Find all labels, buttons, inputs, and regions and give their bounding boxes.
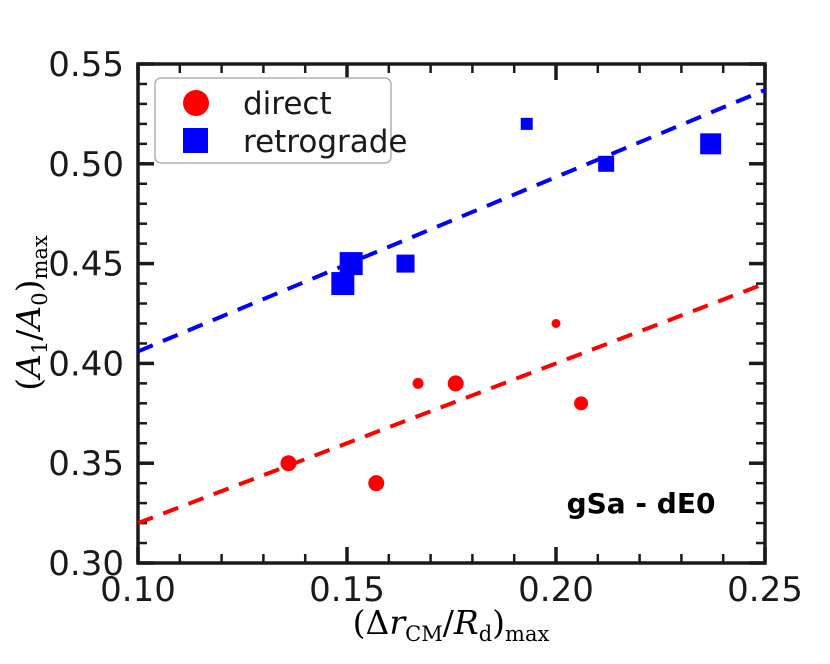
- data-point-direct: [574, 396, 588, 410]
- data-point-retrograde: [340, 252, 363, 275]
- legend-marker-retrograde: [183, 128, 208, 153]
- legend: direct retrograde: [155, 78, 408, 163]
- y-tick-label: 0.45: [48, 245, 124, 285]
- y-tick-label: 0.30: [48, 544, 124, 584]
- data-point-direct: [552, 319, 561, 328]
- data-point-retrograde: [521, 118, 533, 130]
- y-tick-label: 0.40: [48, 344, 124, 384]
- y-tick-label: 0.35: [48, 444, 124, 484]
- data-point-direct: [280, 455, 296, 471]
- x-tick-label: 0.25: [727, 570, 803, 610]
- svg-text:(A1/A0)max: (A1/A0)max: [9, 235, 52, 391]
- x-tick-label: 0.20: [518, 570, 594, 610]
- data-points: [280, 118, 721, 491]
- data-point-direct: [413, 378, 424, 389]
- data-point-retrograde: [598, 156, 614, 172]
- plot-annotation: gSa - dE0: [567, 487, 716, 520]
- data-point-direct: [448, 375, 464, 391]
- y-tick-label: 0.55: [48, 45, 124, 85]
- legend-marker-direct: [183, 90, 209, 116]
- data-point-retrograde: [331, 272, 354, 295]
- legend-label-direct: direct: [243, 86, 332, 122]
- scatter-plot: 0.100.150.200.250.300.350.400.450.500.55…: [0, 0, 830, 664]
- data-point-retrograde: [700, 133, 721, 154]
- data-point-retrograde: [397, 255, 415, 273]
- data-point-direct: [368, 475, 384, 491]
- y-tick-label: 0.50: [48, 145, 124, 185]
- figure-canvas: 0.100.150.200.250.300.350.400.450.500.55…: [0, 0, 830, 664]
- y-axis-title: (A1/A0)max: [9, 235, 52, 391]
- legend-label-retrograde: retrograde: [243, 124, 408, 160]
